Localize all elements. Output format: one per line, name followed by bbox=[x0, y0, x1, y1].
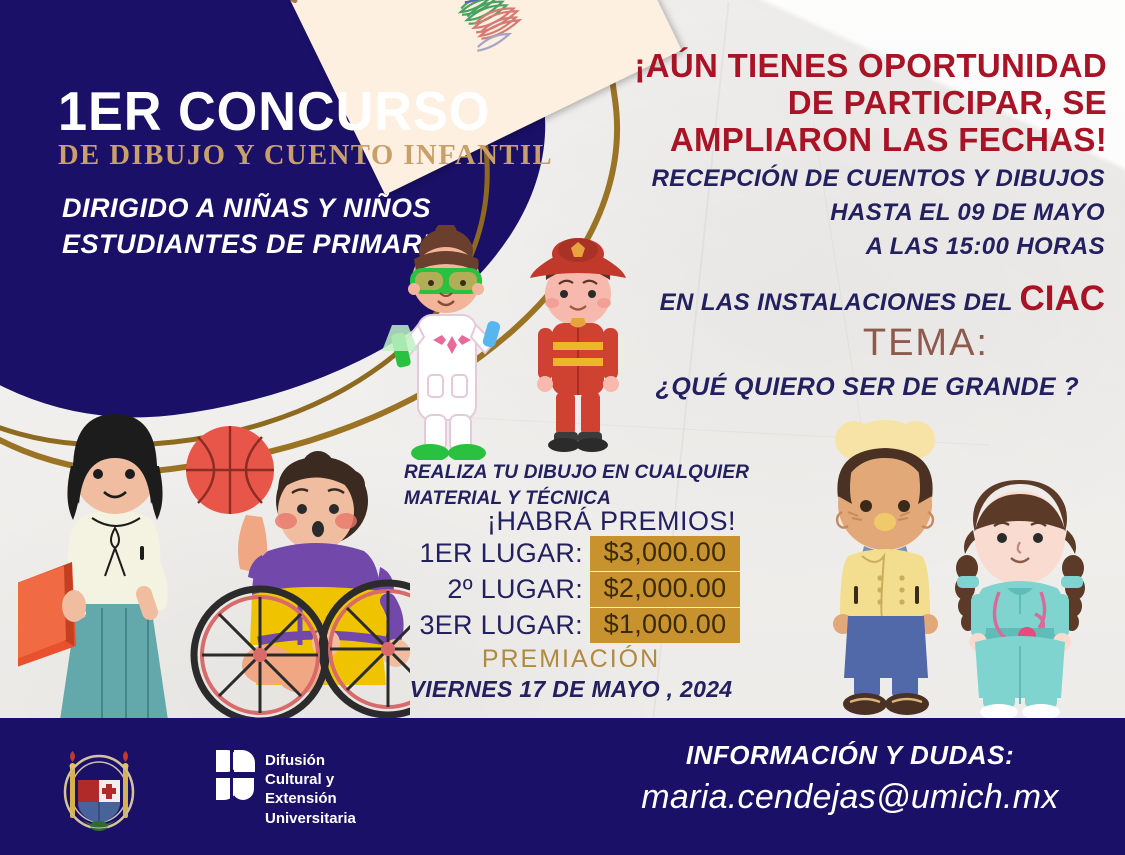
contact-email[interactable]: maria.cendejas@umich.mx bbox=[575, 778, 1125, 817]
prize-row: 3ER LUGAR: $1,000.00 bbox=[380, 610, 740, 641]
headline-line-3: AMPLIARON LAS FECHAS! bbox=[507, 122, 1107, 159]
prize-place: 1ER LUGAR: bbox=[419, 538, 583, 569]
org-line-2: Cultural y bbox=[265, 770, 356, 789]
prize-place: 2º LUGAR: bbox=[447, 574, 583, 605]
announcement-headline: ¡AÚN TIENES OPORTUNIDAD DE PARTICIPAR, S… bbox=[507, 48, 1107, 159]
prize-row: 1ER LUGAR: $3,000.00 bbox=[380, 538, 740, 569]
reception-line-1: RECEPCIÓN DE CUENTOS Y DIBUJOS bbox=[505, 162, 1105, 196]
prize-amount: $3,000.00 bbox=[590, 536, 740, 571]
prize-row: 2º LUGAR: $2,000.00 bbox=[380, 574, 740, 605]
theme-label: TEMA: bbox=[863, 322, 989, 365]
prize-amount: $1,000.00 bbox=[590, 608, 740, 643]
audience-line-1: DIRIGIDO A NIÑAS Y NIÑOS bbox=[62, 190, 450, 226]
reception-line-2: HASTA EL 09 DE MAYO bbox=[505, 196, 1105, 230]
contact-label: INFORMACIÓN Y DUDAS: bbox=[600, 740, 1100, 771]
prizes-list: 1ER LUGAR: $3,000.00 2º LUGAR: $2,000.00… bbox=[380, 538, 740, 646]
boy-wheelchair-basketball bbox=[150, 405, 410, 720]
headline-line-2: DE PARTICIPAR, SE bbox=[507, 85, 1107, 122]
poster-root: 1ER CONCURSO DE DIBUJO Y CUENTO INFANTIL… bbox=[0, 0, 1125, 855]
venue-prefix: EN LAS INSTALACIONES DEL bbox=[660, 289, 1013, 316]
contest-subtitle: DE DIBUJO Y CUENTO INFANTIL bbox=[58, 140, 553, 172]
venue-name: CIAC bbox=[1019, 279, 1105, 318]
prizes-heading: ¡HABRÁ PREMIOS! bbox=[406, 506, 736, 537]
kid-chef bbox=[818, 418, 953, 718]
org-line-1: Difusión bbox=[265, 751, 356, 770]
theme-question: ¿QUÉ QUIERO SER DE GRANDE ? bbox=[656, 373, 1079, 402]
org-name: Difusión Cultural y Extensión Universita… bbox=[265, 751, 356, 828]
prize-place: 3ER LUGAR: bbox=[419, 610, 583, 641]
org-line-4: Universitaria bbox=[265, 809, 356, 828]
instructions-text: REALIZA TU DIBUJO EN CUALQUIER MATERIAL … bbox=[404, 460, 749, 511]
award-date: VIERNES 17 DE MAYO , 2024 bbox=[396, 676, 746, 703]
dceu-monogram-icon bbox=[212, 748, 258, 810]
org-line-3: Extensión bbox=[265, 789, 356, 808]
instructions-line-1: REALIZA TU DIBUJO EN CUALQUIER bbox=[404, 460, 749, 486]
contest-title: 1ER CONCURSO bbox=[58, 84, 490, 139]
prize-amount: $2,000.00 bbox=[590, 572, 740, 607]
kid-firefighter bbox=[516, 232, 640, 454]
kid-nurse bbox=[955, 480, 1085, 720]
umich-crest-icon bbox=[56, 740, 142, 835]
headline-line-1: ¡AÚN TIENES OPORTUNIDAD bbox=[507, 48, 1107, 85]
award-label: PREMIACIÓN bbox=[406, 645, 736, 674]
